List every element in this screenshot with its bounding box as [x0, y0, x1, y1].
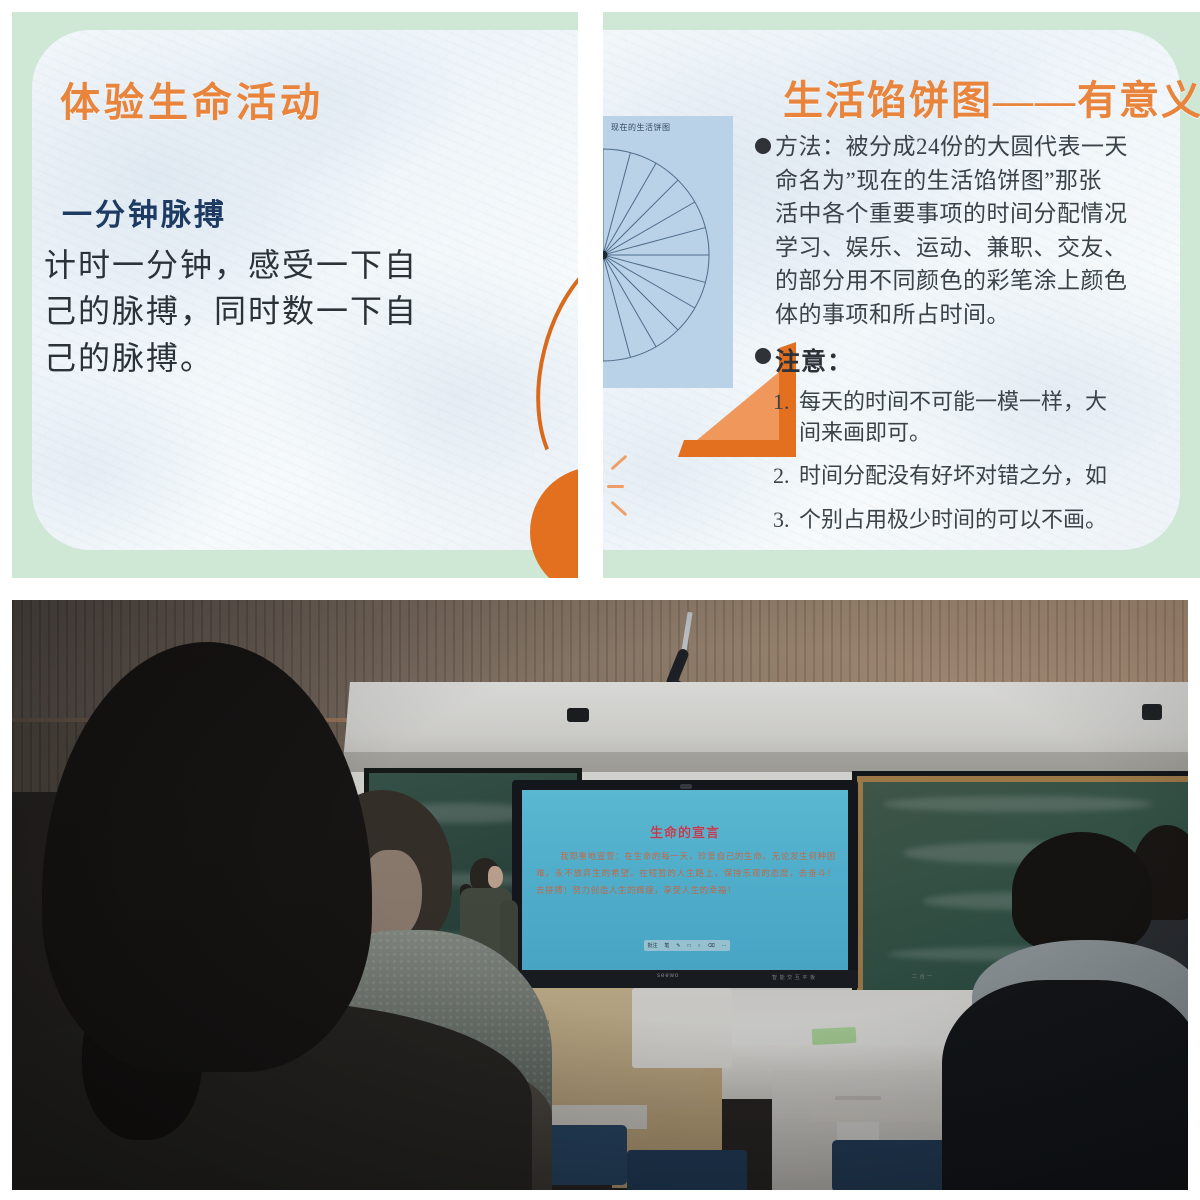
classroom-photograph: 生命的宣言 我郑重地宣誓：在生命的每一天，珍爱自己的生命。无论发生何种困难，永不…	[12, 600, 1188, 1190]
method-line: 命名为”现在的生活馅饼图”那张	[775, 164, 1200, 198]
notice-item: 2. 时间分配没有好坏对错之分，如	[773, 460, 1200, 491]
notice-item: 1. 每天的时间不可能一模一样，大 间来画即可。	[773, 386, 1200, 448]
student-hair	[1012, 832, 1152, 952]
slide-right-method-paragraph: 方法：被分成24份的大圆代表一天 命名为”现在的生活馅饼图”那张 活中各个重要事…	[775, 130, 1200, 331]
slide-right: 生活馅饼图——有意义 现在的生活饼图 方法：被分成24份的大圆代表一天 命名为”…	[603, 12, 1200, 578]
toolbar-item-annotate[interactable]: 批注	[647, 942, 657, 949]
slide-left: 体验生命活动 一分钟脉搏 计时一分钟，感受一下自 己的脉搏，同时数一下自 己的脉…	[12, 12, 578, 578]
notice-text: 时间分配没有好坏对错之分，如	[799, 460, 1107, 491]
slide-right-notice-list: 1. 每天的时间不可能一模一样，大 间来画即可。 2. 时间分配没有好坏对错之分…	[773, 386, 1200, 547]
tick-mark	[611, 455, 628, 471]
left-body-line: 计时一分钟，感受一下自	[44, 242, 474, 288]
toolbar-item-pen[interactable]: 笔	[664, 942, 669, 949]
slide-right-title: 生活馅饼图——有意义	[783, 68, 1200, 126]
display-sub-label: 智 能 交 互 平 板	[772, 974, 816, 981]
student-body	[942, 980, 1188, 1190]
chalk-smear	[883, 796, 1153, 812]
notice-line: 每天的时间不可能一模一样，大	[799, 386, 1107, 417]
method-line: 体的事项和所占时间。	[775, 298, 1200, 332]
notice-line: 个别占用极少时间的可以不画。	[799, 504, 1107, 535]
bullet-dot-method	[755, 138, 771, 154]
display-toolbar[interactable]: 批注 笔 ✎ □ ○ ⌫ ⋯	[644, 940, 730, 951]
podium-panel	[632, 988, 732, 1068]
pie-chart-caption: 现在的生活饼图	[611, 122, 671, 133]
projected-slide-title: 生命的宣言	[522, 822, 848, 841]
slide-right-notice-heading: 注意：	[775, 342, 853, 378]
display-sub-label-2: 二 合 一	[912, 973, 933, 980]
notice-number: 3.	[773, 504, 799, 535]
square-icon[interactable]: □	[688, 943, 691, 949]
eraser-icon[interactable]: ⌫	[707, 943, 714, 949]
more-icon[interactable]: ⋯	[721, 943, 726, 949]
student-chair	[627, 1150, 747, 1190]
notice-text: 个别占用极少时间的可以不画。	[799, 504, 1107, 535]
notice-line: 时间分配没有好坏对错之分，如	[799, 460, 1107, 491]
slide-photo-collage: 体验生命活动 一分钟脉搏 计时一分钟，感受一下自 己的脉搏，同时数一下自 己的脉…	[0, 0, 1200, 1200]
method-line: 方法：被分成24份的大圆代表一天	[775, 130, 1200, 164]
bracket-triangle	[697, 372, 779, 440]
slide-left-subtitle: 一分钟脉搏	[62, 190, 227, 234]
notice-line: 间来画即可。	[799, 417, 1107, 448]
teacher-face	[488, 866, 503, 888]
method-line: 学习、娱乐、运动、兼职、交友、	[775, 231, 1200, 265]
notice-text: 每天的时间不可能一模一样，大 间来画即可。	[799, 386, 1107, 448]
notice-number: 1.	[773, 386, 799, 448]
pencil-icon[interactable]: ✎	[676, 943, 680, 949]
method-line: 活中各个重要事项的时间分配情况	[775, 197, 1200, 231]
student-desk	[812, 1100, 942, 1122]
slide-left-title: 体验生命活动	[60, 70, 324, 128]
circle-icon[interactable]: ○	[697, 943, 700, 949]
orange-tick-marks-decoration	[607, 457, 631, 519]
ceiling-camera-icon	[1142, 704, 1162, 720]
notice-number: 2.	[773, 460, 799, 491]
notice-item: 3. 个别占用极少时间的可以不画。	[773, 504, 1200, 535]
display-brand-label: seewo	[657, 973, 679, 979]
tick-mark	[611, 501, 628, 517]
tick-mark	[607, 485, 624, 488]
slide-left-body-text: 计时一分钟，感受一下自 己的脉搏，同时数一下自 己的脉搏。	[44, 242, 474, 381]
bullet-dot-notice	[755, 348, 771, 364]
projected-slide-body: 我郑重地宣誓：在生命的每一天，珍爱自己的生命。无论发生何种困难，永不放弃生的希望…	[536, 848, 836, 899]
pie-chart-svg	[603, 140, 733, 370]
method-line: 的部分用不同颜色的彩笔涂上颜色	[775, 264, 1200, 298]
student-chair	[832, 1140, 952, 1190]
display-camera-icon	[680, 784, 692, 789]
green-notebook	[812, 1027, 857, 1045]
ceiling-camera-icon	[567, 708, 589, 722]
left-body-line: 己的脉搏，同时数一下自	[44, 288, 474, 334]
left-body-line: 己的脉搏。	[44, 335, 474, 381]
